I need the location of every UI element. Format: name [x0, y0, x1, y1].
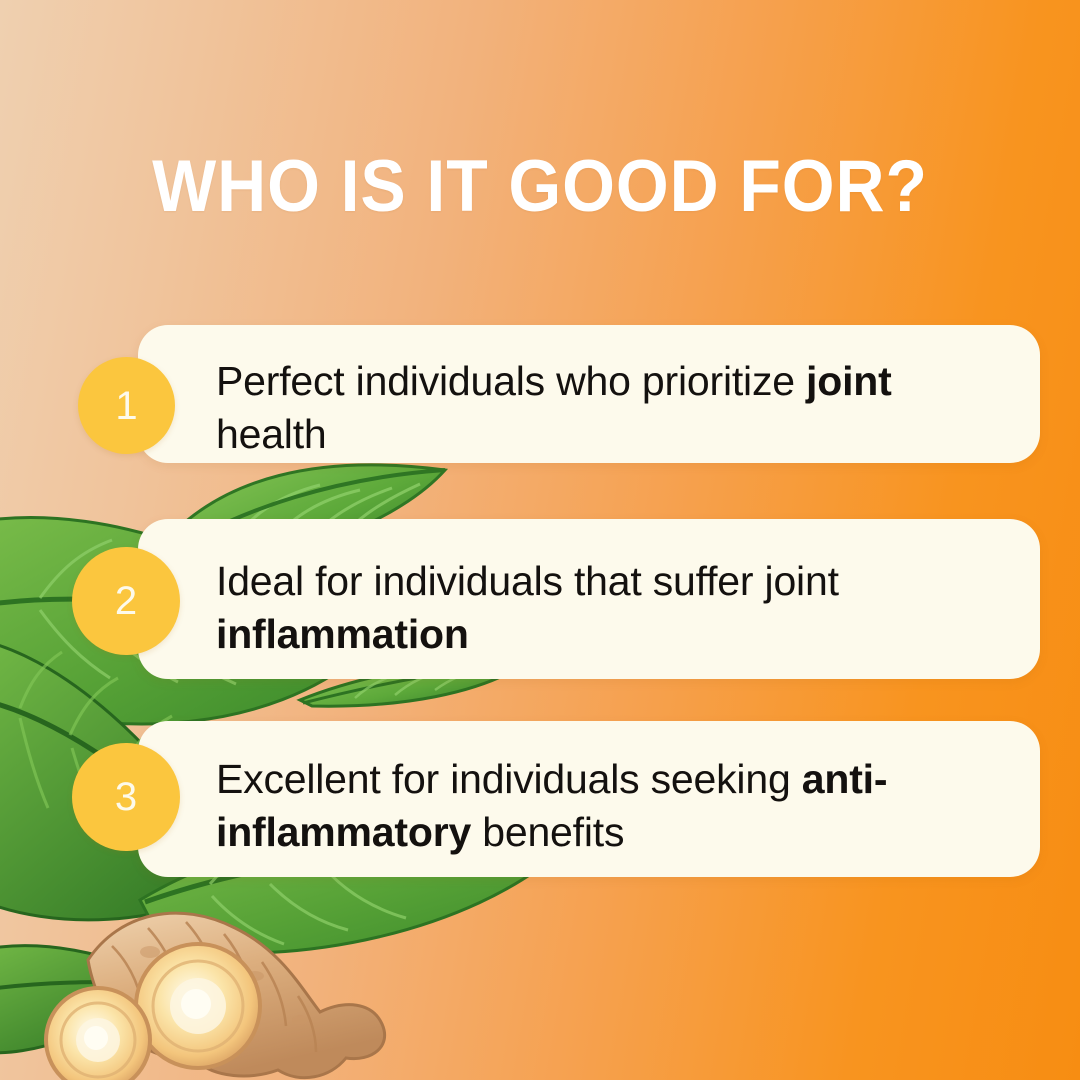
- benefit-text-tail: benefits: [471, 809, 624, 855]
- benefit-text-lead: Perfect individuals who prioritize: [216, 358, 806, 404]
- benefit-text-highlight: inflammation: [216, 611, 469, 657]
- benefit-card: Excellent for individuals seeking anti-i…: [138, 721, 1040, 877]
- benefit-text-tail: health: [216, 411, 327, 457]
- benefit-number-label: 1: [115, 386, 137, 426]
- benefit-card-text: Ideal for individuals that suffer joint …: [216, 555, 1006, 662]
- turmeric-slice: [136, 944, 260, 1068]
- benefit-number-badge: 3: [72, 743, 180, 851]
- benefit-number-badge: 2: [72, 547, 180, 655]
- benefit-number-label: 2: [115, 581, 137, 621]
- benefit-card: Perfect individuals who prioritize joint…: [138, 325, 1040, 463]
- benefit-number-label: 3: [115, 777, 137, 817]
- turmeric-root-illustration: [46, 913, 385, 1080]
- benefit-text-highlight: joint: [806, 358, 892, 404]
- page-title: WHO IS IT GOOD FOR?: [38, 150, 1042, 223]
- benefit-text-lead: Ideal for individuals that suffer joint: [216, 558, 839, 604]
- turmeric-slice: [46, 988, 150, 1080]
- poster-canvas: WHO IS IT GOOD FOR? Perfect individuals …: [0, 0, 1080, 1080]
- benefit-card-text: Perfect individuals who prioritize joint…: [216, 355, 1006, 462]
- benefit-card: Ideal for individuals that suffer joint …: [138, 519, 1040, 679]
- benefit-card-text: Excellent for individuals seeking anti-i…: [216, 753, 1006, 860]
- benefit-number-badge: 1: [78, 357, 175, 454]
- benefit-text-lead: Excellent for individuals seeking: [216, 756, 802, 802]
